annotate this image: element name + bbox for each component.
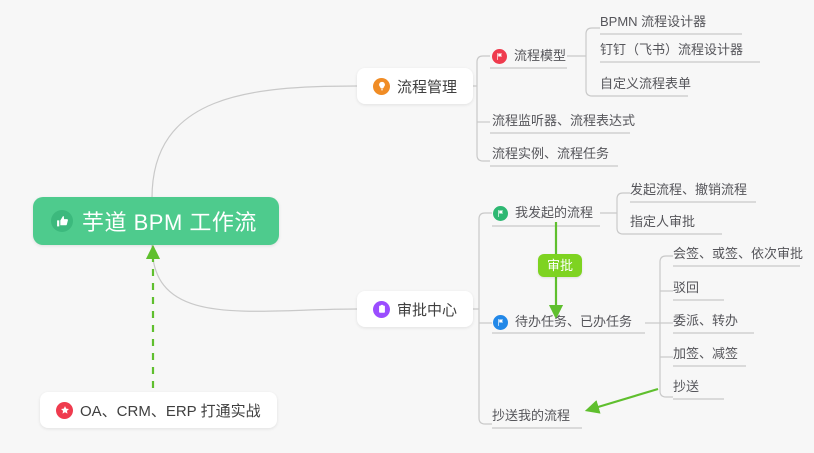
child-label: 流程实例、流程任务: [492, 144, 609, 164]
leaf-label: 会签、或签、依次审批: [673, 244, 803, 264]
child-node-cc-to-me[interactable]: 抄送我的流程: [492, 406, 570, 426]
leaf-label: 抄送: [673, 377, 699, 397]
branch-label: 流程管理: [397, 76, 457, 97]
approval-highlight-tag: 审批: [538, 254, 582, 277]
child-label: 流程模型: [514, 46, 566, 66]
leaf-label: 自定义流程表单: [600, 74, 691, 94]
lightbulb-icon: [373, 78, 390, 95]
leaf-add-remove-sign[interactable]: 加签、减签: [673, 344, 738, 364]
bottom-note-label: OA、CRM、ERP 打通实战: [80, 400, 261, 421]
child-node-my-started-processes[interactable]: 我发起的流程: [493, 203, 593, 223]
leaf-start-cancel-process[interactable]: 发起流程、撤销流程: [630, 180, 747, 200]
child-label: 流程监听器、流程表达式: [492, 111, 635, 131]
leaf-reject[interactable]: 驳回: [673, 278, 699, 298]
root-label: 芋道 BPM 工作流: [82, 205, 257, 237]
child-label: 我发起的流程: [515, 203, 593, 223]
leaf-label: 发起流程、撤销流程: [630, 180, 747, 200]
child-label: 待办任务、已办任务: [515, 312, 632, 332]
cc-flow-arrow: [588, 389, 658, 410]
bottom-note-node[interactable]: OA、CRM、ERP 打通实战: [40, 392, 277, 428]
leaf-cc[interactable]: 抄送: [673, 377, 699, 397]
approval-tag-label: 审批: [547, 258, 573, 273]
child-node-todo-done-tasks[interactable]: 待办任务、已办任务: [493, 312, 632, 332]
child-node-process-model[interactable]: 流程模型: [492, 46, 566, 66]
branch-node-approval-center[interactable]: 审批中心: [357, 291, 473, 327]
mindmap-canvas: 芋道 BPM 工作流 流程管理 流程模型 BPMN 流程设计器 钉钉（飞书）流程…: [0, 0, 814, 453]
leaf-label: 驳回: [673, 278, 699, 298]
flag-icon: [492, 49, 507, 64]
thumbs-up-icon: [51, 210, 73, 232]
child-label: 抄送我的流程: [492, 406, 570, 426]
leaf-bpmn-designer[interactable]: BPMN 流程设计器: [600, 12, 706, 32]
child-node-listener-expression[interactable]: 流程监听器、流程表达式: [492, 111, 635, 131]
leaf-label: 委派、转办: [673, 311, 738, 331]
clipboard-icon: [373, 301, 390, 318]
leaf-label: 指定人审批: [630, 212, 695, 232]
leaf-custom-form[interactable]: 自定义流程表单: [600, 74, 691, 94]
leaf-dingtalk-designer[interactable]: 钉钉（飞书）流程设计器: [600, 40, 743, 60]
leaf-label: 钉钉（飞书）流程设计器: [600, 40, 743, 60]
leaf-label: 加签、减签: [673, 344, 738, 364]
star-icon: [56, 402, 73, 419]
leaf-countersign[interactable]: 会签、或签、依次审批: [673, 244, 803, 264]
flag-icon: [493, 315, 508, 330]
flag-icon: [493, 206, 508, 221]
root-node[interactable]: 芋道 BPM 工作流: [33, 197, 279, 245]
leaf-delegate-transfer[interactable]: 委派、转办: [673, 311, 738, 331]
branch-label: 审批中心: [397, 299, 457, 320]
leaf-assignee-approval[interactable]: 指定人审批: [630, 212, 695, 232]
leaf-label: BPMN 流程设计器: [600, 12, 706, 32]
branch-node-process-management[interactable]: 流程管理: [357, 68, 473, 104]
child-node-instance-task[interactable]: 流程实例、流程任务: [492, 144, 609, 164]
